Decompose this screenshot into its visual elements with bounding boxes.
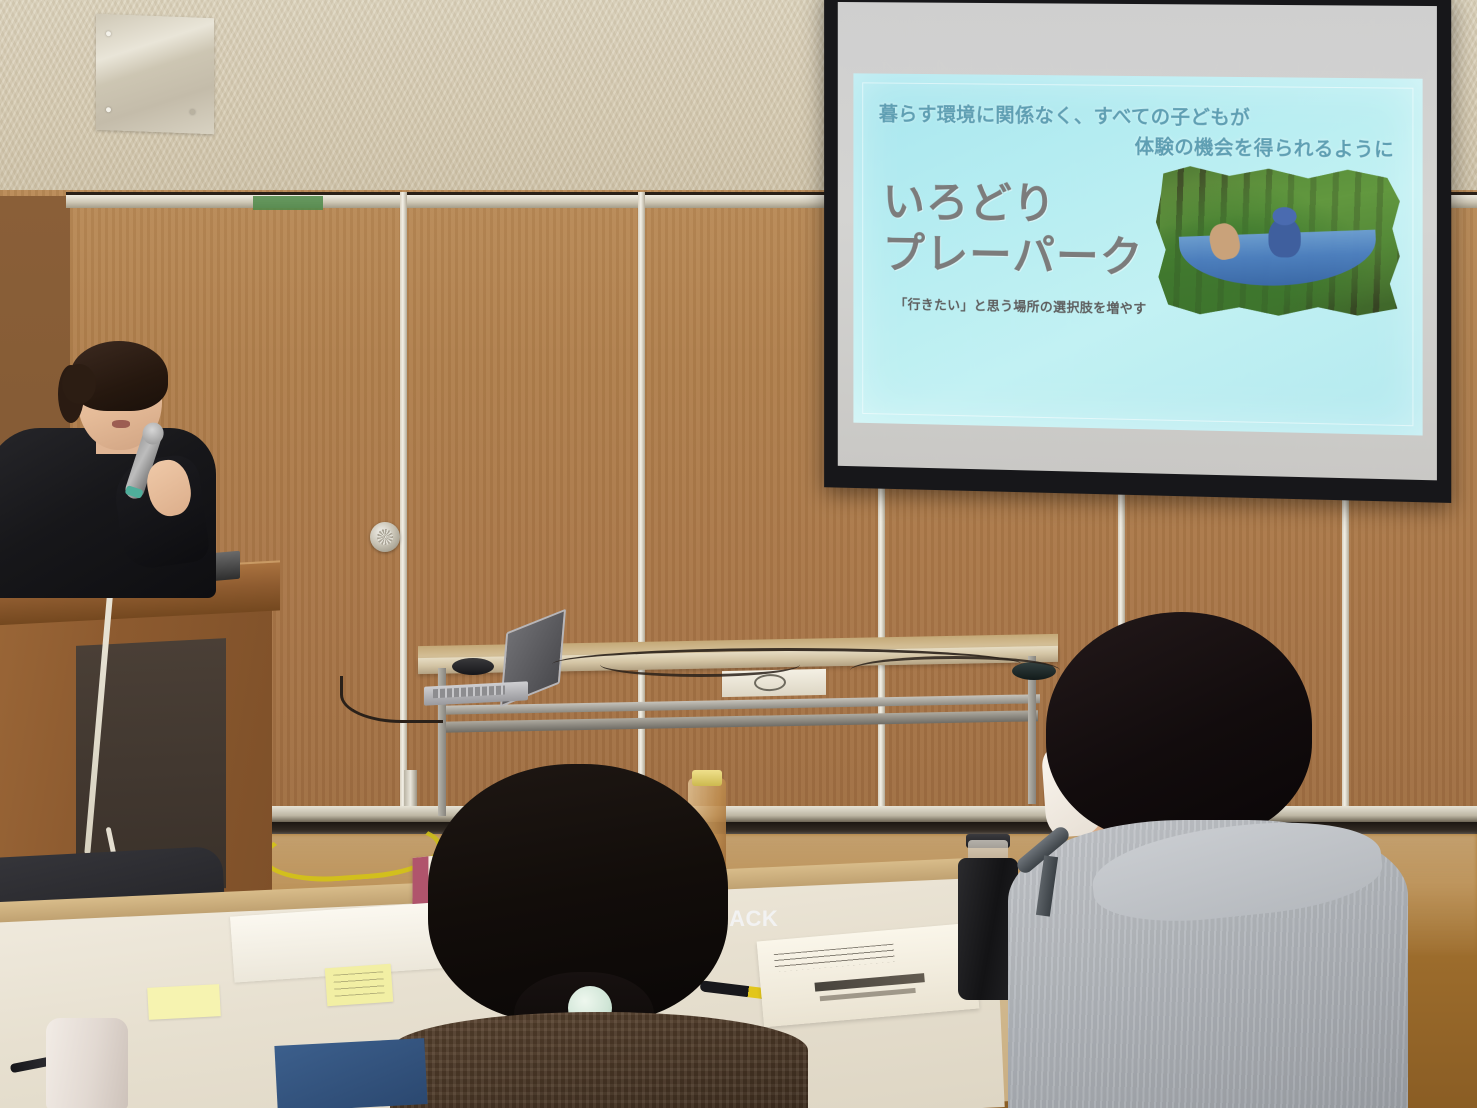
speaker-puck-device[interactable] bbox=[452, 658, 494, 675]
plate-screw-icon bbox=[190, 109, 195, 114]
yellow-sticky-note-written[interactable] bbox=[325, 964, 393, 1007]
thermos-bottle[interactable] bbox=[46, 1018, 128, 1108]
slide-photo-hammock bbox=[1156, 164, 1402, 321]
partition-seam bbox=[400, 192, 407, 852]
screen-surface: 暮らす環境に関係なく、すべての子どもが 体験の機会を得られるように いろどり プ… bbox=[838, 2, 1437, 480]
child-figure bbox=[1269, 218, 1301, 258]
attendee-left bbox=[392, 764, 822, 1108]
green-tape-marker bbox=[253, 196, 323, 210]
partition-latch-icon[interactable] bbox=[370, 522, 400, 552]
handwriting-lines bbox=[333, 971, 384, 996]
presenter bbox=[0, 340, 230, 590]
slide-headline: 暮らす環境に関係なく、すべての子どもが 体験の機会を得られるように bbox=[879, 99, 1400, 165]
slide-headline-line1: 暮らす環境に関係なく、すべての子どもが bbox=[879, 103, 1250, 129]
yellow-sticky-note[interactable] bbox=[147, 984, 221, 1020]
slide-title-line2: プレーパーク bbox=[883, 229, 1144, 285]
table-cable bbox=[600, 652, 800, 677]
presenter-mouth bbox=[112, 420, 130, 428]
attendee-right bbox=[988, 598, 1418, 1108]
attendee-hair bbox=[1046, 612, 1312, 842]
attendee-lower-garment bbox=[274, 1038, 427, 1108]
presentation-scene: 暮らす環境に関係なく、すべての子どもが 体験の機会を得られるように いろどり プ… bbox=[0, 0, 1477, 1108]
projection-screen: 暮らす環境に関係なく、すべての子どもが 体験の機会を得られるように いろどり プ… bbox=[824, 0, 1451, 503]
slide-title-line1: いろどり bbox=[883, 177, 1144, 233]
plate-screw-icon bbox=[106, 31, 111, 36]
plate-screw-icon bbox=[106, 107, 111, 112]
wall-plate-sign bbox=[96, 14, 214, 135]
attendee-sweater bbox=[390, 1012, 808, 1108]
slide-title: いろどり プレーパーク bbox=[883, 177, 1144, 285]
partition-seam bbox=[638, 192, 645, 852]
presenter-hair-bun bbox=[62, 364, 96, 404]
presentation-slide: 暮らす環境に関係なく、すべての子どもが 体験の機会を得られるように いろどり プ… bbox=[853, 73, 1422, 435]
